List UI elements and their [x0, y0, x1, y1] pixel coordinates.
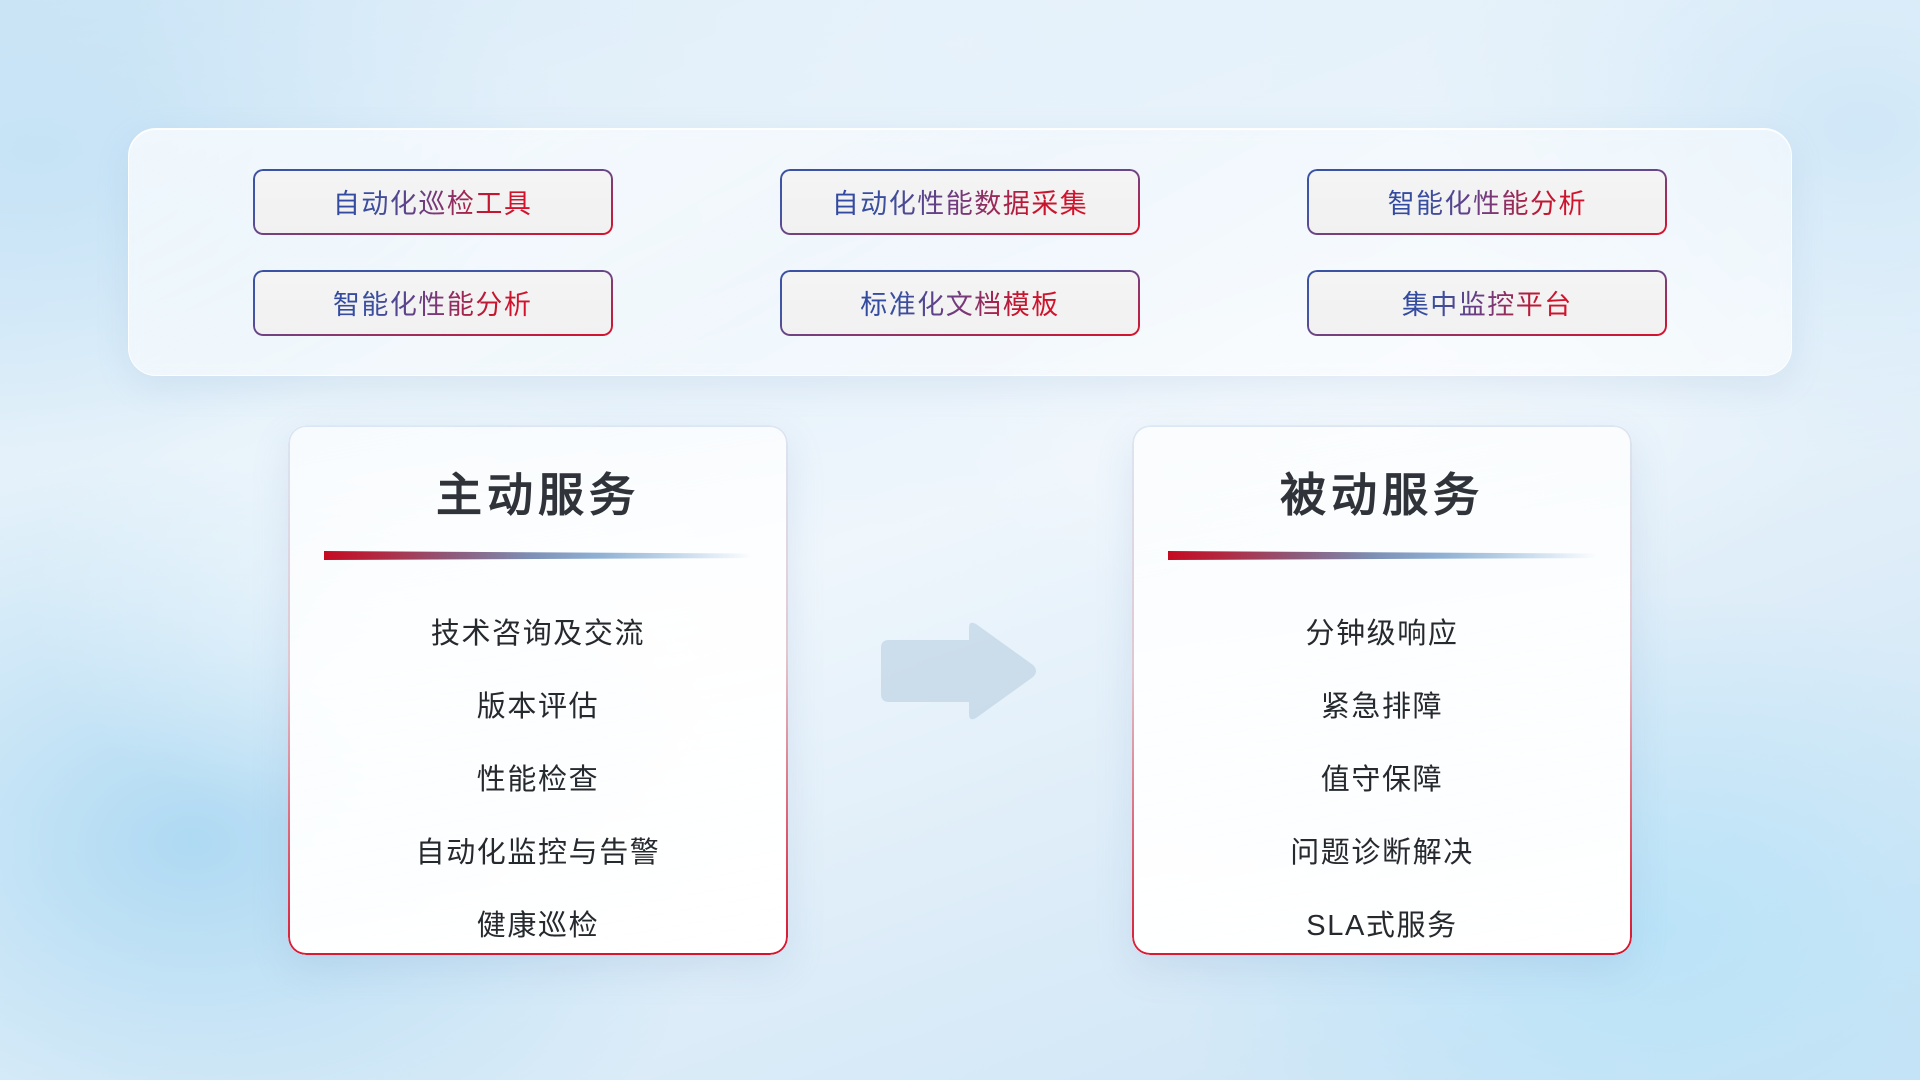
- capability-tag-label: 标准化文档模板: [860, 283, 1060, 322]
- capability-tag-standardized-document-template[interactable]: 标准化文档模板: [780, 270, 1140, 336]
- list-item: 版本评估: [288, 667, 788, 740]
- list-item: 健康巡检: [288, 886, 788, 955]
- infographic-canvas: 自动化巡检工具 自动化性能数据采集 智能化性能分析 智能化性能分析 标准化文档模…: [0, 0, 1920, 1080]
- list-item: 问题诊断解决: [1132, 813, 1632, 886]
- service-card-reactive: 被动服务 分钟级响应 紧急排障 值守保障 问题诊断解决 SLA式服务: [1132, 425, 1632, 955]
- capability-tag-label: 智能化性能分析: [333, 283, 533, 322]
- card-title-divider: [324, 551, 752, 560]
- card-title-divider: [1168, 551, 1596, 560]
- card-title: 被动服务: [1132, 459, 1632, 525]
- capability-tag-intelligent-performance-analysis-2[interactable]: 智能化性能分析: [253, 270, 613, 336]
- capability-tag-automated-inspection-tool[interactable]: 自动化巡检工具: [253, 169, 613, 235]
- capability-tag-label: 自动化性能数据采集: [832, 182, 1089, 221]
- list-item: 技术咨询及交流: [288, 594, 788, 667]
- service-item-list: 分钟级响应 紧急排障 值守保障 问题诊断解决 SLA式服务: [1132, 594, 1632, 955]
- capability-tag-label: 集中监控平台: [1402, 283, 1573, 322]
- divider-gradient-bar: [1168, 551, 1596, 560]
- right-arrow-icon: [873, 618, 1039, 724]
- list-item: SLA式服务: [1132, 886, 1632, 955]
- list-item: 自动化监控与告警: [288, 813, 788, 886]
- list-item: 紧急排障: [1132, 667, 1632, 740]
- capability-tag-label: 智能化性能分析: [1388, 182, 1588, 221]
- card-title: 主动服务: [288, 459, 788, 525]
- capability-tag-centralized-monitoring-platform[interactable]: 集中监控平台: [1307, 270, 1667, 336]
- capability-tag-panel: 自动化巡检工具 自动化性能数据采集 智能化性能分析 智能化性能分析 标准化文档模…: [128, 128, 1792, 376]
- list-item: 值守保障: [1132, 740, 1632, 813]
- list-item: 性能检查: [288, 740, 788, 813]
- capability-tag-label: 自动化巡检工具: [333, 182, 533, 221]
- service-item-list: 技术咨询及交流 版本评估 性能检查 自动化监控与告警 健康巡检: [288, 594, 788, 955]
- capability-tag-automated-performance-data-collection[interactable]: 自动化性能数据采集: [780, 169, 1140, 235]
- divider-gradient-bar: [324, 551, 752, 560]
- list-item: 分钟级响应: [1132, 594, 1632, 667]
- service-card-proactive: 主动服务 技术咨询及交流 版本评估 性能检查 自动化监控与告警 健康巡检: [288, 425, 788, 955]
- capability-tag-intelligent-performance-analysis-1[interactable]: 智能化性能分析: [1307, 169, 1667, 235]
